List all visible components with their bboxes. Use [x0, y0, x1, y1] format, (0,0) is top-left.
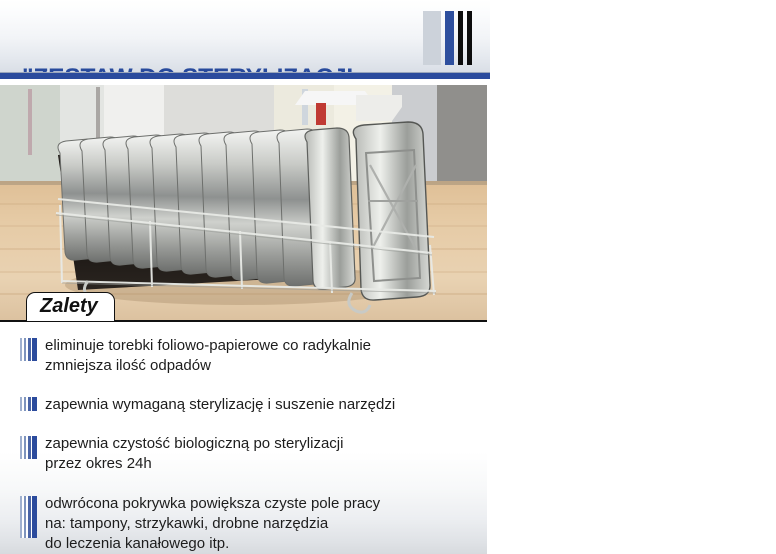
- logo-bar-black-2-icon: [467, 11, 472, 65]
- list-item-line: przez okres 24h: [45, 454, 469, 474]
- benefits-list: eliminuje torebki foliowo-papierowe co r…: [0, 322, 487, 554]
- list-item-line: na: tampony, strzykawki, drobne narzędzi…: [45, 514, 469, 534]
- poster-root: "ZESTAW DO STERYLIZACJI NARZĘDZI STOMATO…: [0, 0, 490, 554]
- section-tab-zalety: Zalety: [26, 292, 115, 321]
- logo-bar-blue-icon: [445, 11, 454, 65]
- header-divider: [0, 72, 490, 79]
- bullet-bars-icon: [20, 496, 37, 538]
- list-item: eliminuje torebki foliowo-papierowe co r…: [0, 336, 487, 376]
- header-band: "ZESTAW DO STERYLIZACJI NARZĘDZI STOMATO…: [0, 0, 490, 79]
- bullet-bars-icon: [20, 397, 37, 411]
- product-photo-image: [0, 85, 487, 320]
- list-item-line: zapewnia wymaganą sterylizację i suszeni…: [45, 395, 469, 415]
- list-item-line: zmniejsza ilość odpadów: [45, 356, 469, 376]
- list-item: odwrócona pokrywka powiększa czyste pole…: [0, 494, 487, 554]
- list-item: zapewnia wymaganą sterylizację i suszeni…: [0, 395, 487, 415]
- list-item-line: zapewnia czystość biologiczną po steryli…: [45, 434, 469, 454]
- logo-bar-black-1-icon: [458, 11, 463, 65]
- bullet-bars-icon: [20, 338, 37, 361]
- list-item-line: do leczenia kanałowego itp.: [45, 534, 469, 554]
- list-item-line: eliminuje torebki foliowo-papierowe co r…: [45, 337, 371, 354]
- page-title: "ZESTAW DO STERYLIZACJI NARZĘDZI STOMATO…: [22, 5, 412, 79]
- list-item-text: odwrócona pokrywka powiększa czyste pole…: [45, 494, 469, 554]
- list-item-text: zapewnia czystość biologiczną po steryli…: [45, 434, 469, 474]
- list-item-text: eliminuje torebki foliowo-papierowe co r…: [45, 336, 469, 376]
- logo-bar-gray-icon: [423, 11, 441, 65]
- list-item-line: odwrócona pokrywka powiększa czyste pole…: [45, 494, 469, 514]
- list-item: zapewnia czystość biologiczną po steryli…: [0, 434, 487, 474]
- logo-bars-icon: [423, 11, 472, 65]
- bullet-bars-icon: [20, 436, 37, 459]
- product-photo: [0, 85, 487, 320]
- list-item-text: zapewnia wymaganą sterylizację i suszeni…: [45, 395, 469, 415]
